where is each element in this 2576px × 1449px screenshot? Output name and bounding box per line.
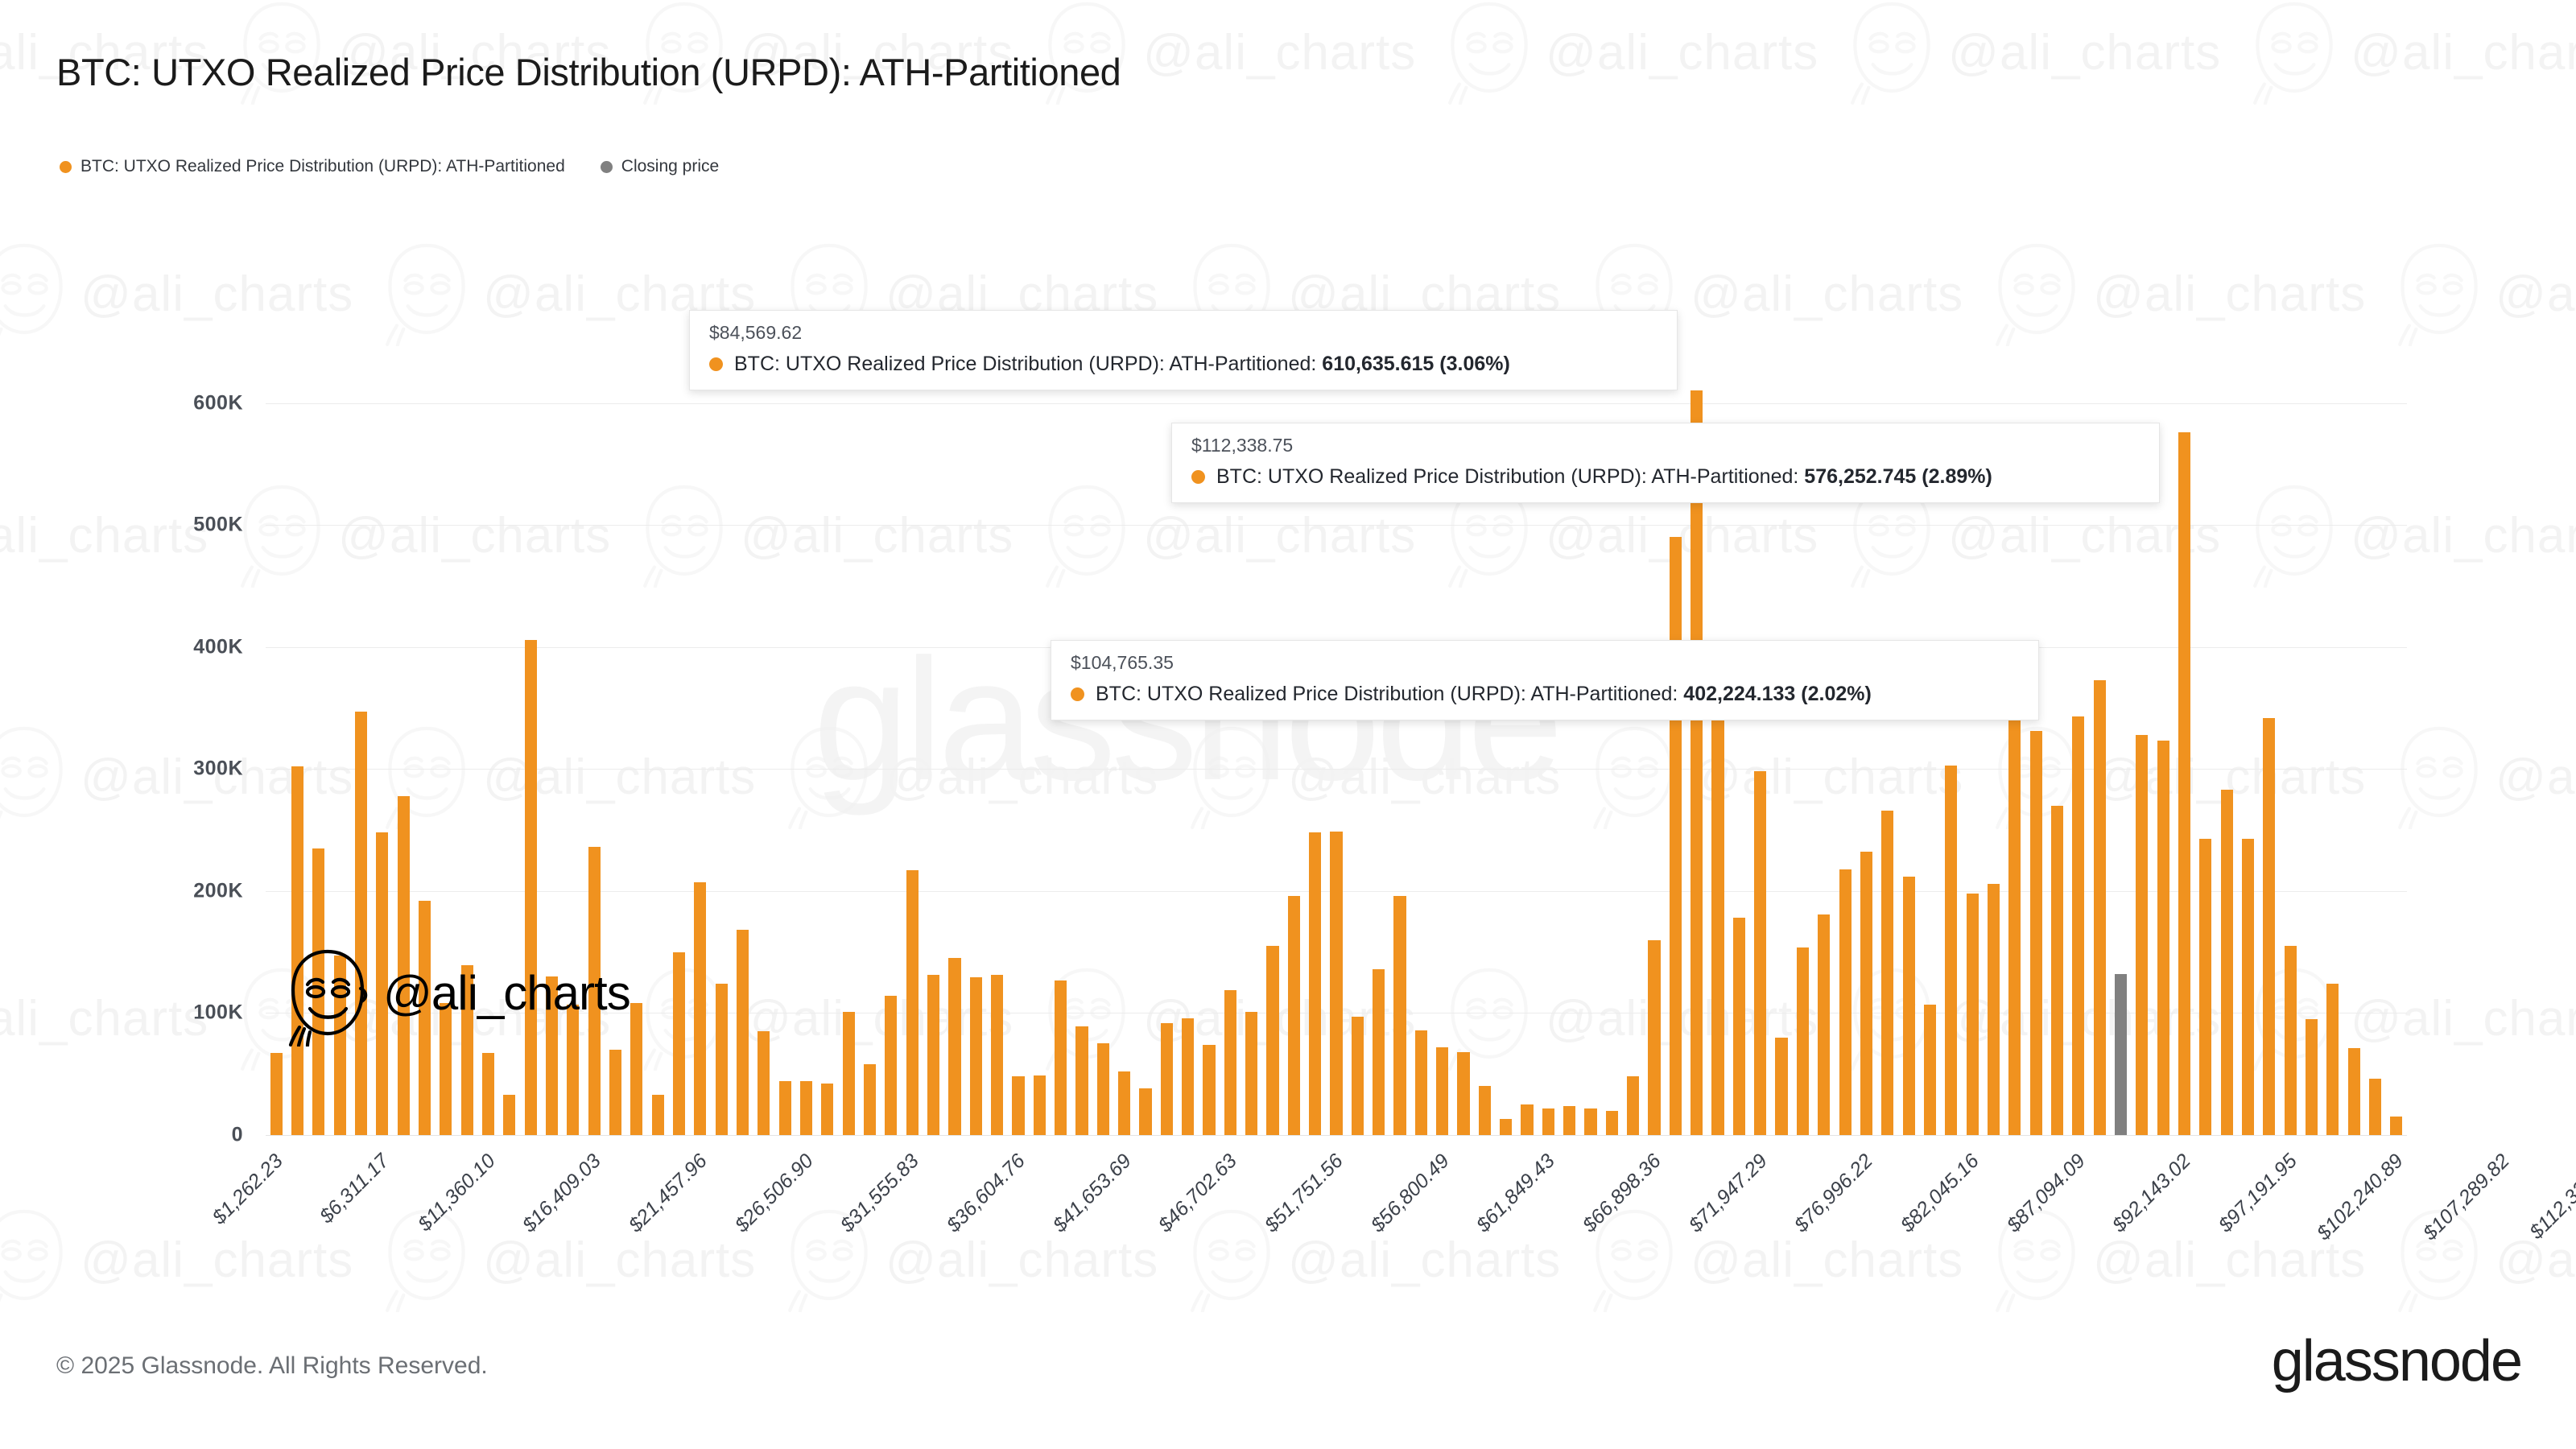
tooltip-series-dot-icon [1191,470,1205,484]
x-axis-tick-label: $71,947.29 [1684,1150,1772,1237]
tooltip-series-name: BTC: UTXO Realized Price Distribution (U… [1216,465,1804,488]
chart-tooltip: $112,338.75BTC: UTXO Realized Price Dist… [1171,423,2160,503]
x-axis-tick-label: $82,045.16 [1897,1150,1984,1237]
tooltip-series-dot-icon [1071,687,1084,701]
x-axis-tick-label: $31,555.83 [836,1150,924,1237]
x-axis-tick-label: $87,094.09 [2002,1150,2090,1237]
tooltip-series-text: BTC: UTXO Realized Price Distribution (U… [1096,683,1872,706]
chart-tooltip: $104,765.35BTC: UTXO Realized Price Dist… [1051,640,2039,720]
x-axis-tick-label: $21,457.96 [624,1150,712,1237]
x-axis-tick-label: $97,191.95 [2215,1150,2302,1237]
x-axis-tick-label: $36,604.76 [942,1150,1030,1237]
tooltip-series-name: BTC: UTXO Realized Price Distribution (U… [734,353,1322,375]
ali-charts-badge: @ali_charts [283,940,630,1046]
footer-copyright: © 2025 Glassnode. All Rights Reserved. [56,1352,488,1380]
tooltip-series-value: 402,224.133 (2.02%) [1683,683,1872,705]
ali-charts-handle: @ali_charts [383,969,630,1018]
tooltip-price: $104,765.35 [1071,652,2021,674]
x-axis-tick-label: $1,262.23 [208,1150,288,1229]
tooltip-series-dot-icon [709,357,723,371]
x-axis-tick-label: $76,996.22 [1790,1150,1878,1237]
x-axis-tick-label: $11,360.10 [413,1150,500,1236]
tooltip-price: $84,569.62 [709,322,1659,344]
tooltip-series-value: 610,635.615 (3.06%) [1322,353,1510,375]
x-axis-tick-label: $41,653.69 [1048,1150,1136,1237]
tooltip-series-text: BTC: UTXO Realized Price Distribution (U… [734,353,1510,376]
tooltip-row: BTC: UTXO Realized Price Distribution (U… [1191,465,2141,489]
x-axis-tick-label: $61,849.43 [1472,1150,1560,1237]
x-axis-tick-label: $46,702.63 [1154,1150,1242,1237]
glassnode-logo: glassnode [2272,1328,2521,1394]
tooltip-price: $112,338.75 [1191,435,2141,456]
x-axis-tick-label: $16,409.03 [518,1150,606,1237]
x-axis-tick-label: $51,751.56 [1261,1150,1348,1237]
x-axis-tick-label: $26,506.90 [730,1150,818,1237]
tooltip-series-value: 576,252.745 (2.89%) [1804,465,1992,488]
chart-tooltip: $84,569.62BTC: UTXO Realized Price Distr… [689,310,1678,390]
x-axis-tick-label: $102,240.89 [2313,1150,2409,1245]
x-axis-tick-label: $107,289.82 [2418,1150,2514,1245]
tooltip-series-text: BTC: UTXO Realized Price Distribution (U… [1216,465,1992,489]
x-axis-tick-label: $66,898.36 [1579,1150,1666,1237]
x-axis-tick-label: $6,311.17 [316,1150,394,1228]
x-axis-tick-label: $112,338.75 [2525,1150,2576,1245]
tooltip-row: BTC: UTXO Realized Price Distribution (U… [1071,683,2021,706]
tooltip-series-name: BTC: UTXO Realized Price Distribution (U… [1096,683,1683,705]
x-axis-tick-label: $92,143.02 [2108,1150,2196,1237]
tooltip-row: BTC: UTXO Realized Price Distribution (U… [709,353,1659,376]
x-axis-tick-label: $56,800.49 [1366,1150,1454,1237]
x-axis: $1,262.23$6,311.17$11,360.10$16,409.03$2… [0,0,2576,1449]
ali-charts-face-icon [283,940,372,1046]
